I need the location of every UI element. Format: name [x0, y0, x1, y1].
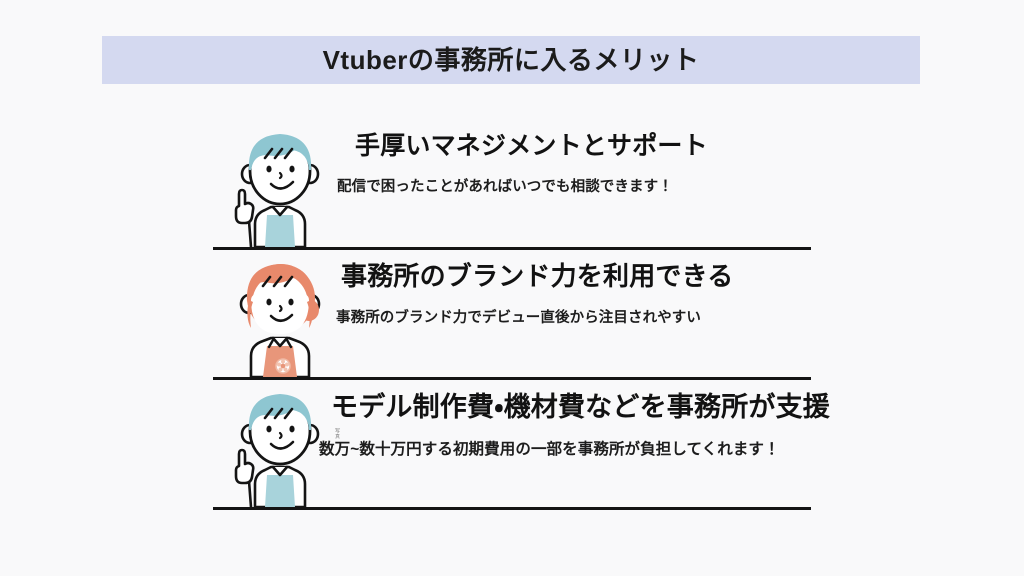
person-pointing-teal-hair-icon: 写真 [225, 382, 335, 507]
list-item-text: モデル制作費・機材費などを事務所が支援 数万~数十万円する初期費用の一部を事務所… [345, 380, 830, 459]
person-pointing-teal-hair-icon [225, 122, 335, 247]
slide-root: Vtuberの事務所に入るメリット [0, 0, 1024, 576]
list-item: 写真 モデル制作費・機材費などを事務所が支援 数万~数十万円する初期費用の一部を… [213, 380, 811, 507]
benefit-subtext: 数万~数十万円する初期費用の一部を事務所が負担してくれます！ [319, 437, 830, 459]
page-title: Vtuberの事務所に入るメリット [323, 47, 700, 73]
benefit-subtext: 事務所のブランド力でデビュー直後から注目されやすい [336, 306, 811, 327]
section-divider [213, 507, 811, 510]
list-item: 手厚いマネジメントとサポート 配信で困ったことがあればいつでも相談できます！ [213, 120, 811, 247]
header-bar: Vtuberの事務所に入るメリット [102, 36, 920, 84]
benefits-list: 手厚いマネジメントとサポート 配信で困ったことがあればいつでも相談できます！ [213, 120, 811, 510]
person-apron-coral-hair-icon [225, 252, 335, 377]
benefit-heading: 事務所のブランド力を利用できる [341, 262, 811, 292]
benefit-subtext: 配信で困ったことがあればいつでも相談できます！ [337, 175, 811, 196]
benefit-heading: 手厚いマネジメントとサポート [355, 132, 811, 161]
benefit-heading: モデル制作費・機材費などを事務所が支援 [331, 392, 830, 423]
list-item-text: 事務所のブランド力を利用できる 事務所のブランド力でデビュー直後から注目されやす… [345, 250, 811, 327]
list-item-text: 手厚いマネジメントとサポート 配信で困ったことがあればいつでも相談できます！ [345, 120, 811, 196]
corner-note: 写真 [334, 428, 341, 439]
list-item: 事務所のブランド力を利用できる 事務所のブランド力でデビュー直後から注目されやす… [213, 250, 811, 377]
